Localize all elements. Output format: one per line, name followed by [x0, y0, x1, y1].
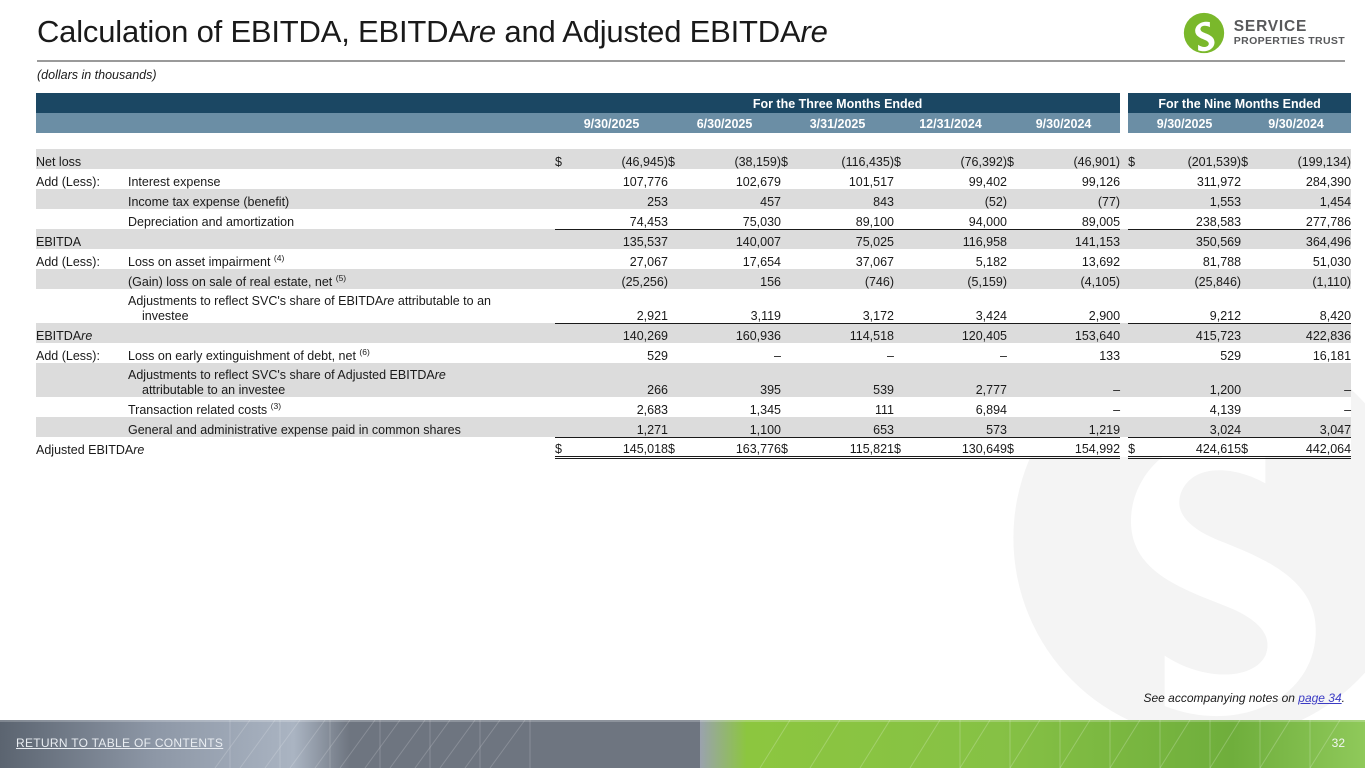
- return-to-table-of-contents-link[interactable]: RETURN TO TABLE OF CONTENTS: [16, 736, 223, 750]
- row-label-primary-adj-svc-share-adjusted-ebitdare: [36, 363, 128, 397]
- currency-symbol-net-loss-4: $: [1007, 149, 1023, 169]
- footer-band: RETURN TO TABLE OF CONTENTS 32: [0, 720, 1365, 768]
- cell-gain-loss-sale-real-estate-1: 156: [684, 269, 781, 289]
- cell-adjusted-ebitdare-1: 163,776: [684, 437, 781, 457]
- cell-income-tax-expense-3: (52): [910, 189, 1007, 209]
- row-label-primary-net-loss: Net loss: [36, 149, 128, 169]
- currency-symbol-loss-asset-impairment-0: [555, 249, 571, 269]
- currency-symbol-income-tax-expense-1: [668, 189, 684, 209]
- row-label-secondary-loss-asset-impairment: Loss on asset impairment (4): [128, 249, 555, 269]
- column-gap: [1120, 417, 1128, 437]
- currency-symbol-transaction-related-costs-2: [781, 397, 797, 417]
- cell-adj-svc-share-adjusted-ebitdare-0: 266: [571, 363, 668, 397]
- header-group-gap: [1120, 93, 1128, 113]
- table-row: Income tax expense (benefit)253457843(52…: [36, 189, 1351, 209]
- currency-symbol-adj-svc-share-adjusted-ebitdare-3: [894, 363, 910, 397]
- column-header-4: 9/30/2024: [1007, 113, 1120, 133]
- cell-adj-svc-share-adjusted-ebitdare-3: 2,777: [910, 363, 1007, 397]
- cell-interest-expense-6: 284,390: [1257, 169, 1351, 189]
- cell-ebitda-1: 140,007: [684, 229, 781, 249]
- column-header-2: 3/31/2025: [781, 113, 894, 133]
- table-header-dates: 9/30/2025 6/30/2025 3/31/2025 12/31/2024…: [36, 113, 1351, 133]
- cell-gain-loss-sale-real-estate-2: (746): [797, 269, 894, 289]
- cell-adj-svc-share-ebitdare-1: 3,119: [684, 289, 781, 323]
- cell-loss-asset-impairment-1: 17,654: [684, 249, 781, 269]
- financial-table-body: For the Three Months Ended For the Nine …: [36, 93, 1351, 457]
- cell-depreciation-amortization-4: 89,005: [1023, 209, 1120, 229]
- row-label-secondary-transaction-related-costs: Transaction related costs (3): [128, 397, 555, 417]
- cell-transaction-related-costs-1: 1,345: [684, 397, 781, 417]
- cell-transaction-related-costs-6: –: [1257, 397, 1351, 417]
- cell-income-tax-expense-2: 843: [797, 189, 894, 209]
- row-label-secondary-adj-svc-share-ebitdare: Adjustments to reflect SVC's share of EB…: [128, 289, 555, 323]
- row-label-secondary-adjusted-ebitdare: [128, 437, 555, 457]
- cell-loss-early-extinguishment-debt-5: 529: [1144, 343, 1241, 363]
- cell-gain-loss-sale-real-estate-3: (5,159): [910, 269, 1007, 289]
- cell-adj-svc-share-ebitdare-2: 3,172: [797, 289, 894, 323]
- currency-symbol-ebitda-1: [668, 229, 684, 249]
- cell-loss-early-extinguishment-debt-4: 133: [1023, 343, 1120, 363]
- table-row: (Gain) loss on sale of real estate, net …: [36, 269, 1351, 289]
- cell-ebitdare-0: 140,269: [571, 323, 668, 343]
- cell-loss-asset-impairment-0: 27,067: [571, 249, 668, 269]
- cell-ga-expense-common-shares-6: 3,047: [1257, 417, 1351, 437]
- currency-symbol-adj-svc-share-ebitdare-0: [555, 289, 571, 323]
- currency-symbol-interest-expense-5: [1128, 169, 1144, 189]
- currency-symbol-gain-loss-sale-real-estate-1: [668, 269, 684, 289]
- currency-symbol-adj-svc-share-adjusted-ebitdare-4: [1007, 363, 1023, 397]
- currency-symbol-loss-early-extinguishment-debt-2: [781, 343, 797, 363]
- column-gap: [1120, 397, 1128, 417]
- currency-symbol-loss-asset-impairment-5: [1128, 249, 1144, 269]
- notes-prefix: See accompanying notes on: [1143, 691, 1298, 705]
- currency-symbol-loss-early-extinguishment-debt-0: [555, 343, 571, 363]
- cell-gain-loss-sale-real-estate-4: (4,105): [1023, 269, 1120, 289]
- currency-symbol-net-loss-3: $: [894, 149, 910, 169]
- row-label-primary-loss-early-extinguishment-debt: Add (Less):: [36, 343, 128, 363]
- cell-ga-expense-common-shares-5: 3,024: [1144, 417, 1241, 437]
- page-title-mid: re: [469, 14, 496, 49]
- row-label-secondary-net-loss: [128, 149, 555, 169]
- row-label-primary-income-tax-expense: [36, 189, 128, 209]
- cell-interest-expense-1: 102,679: [684, 169, 781, 189]
- currency-symbol-gain-loss-sale-real-estate-0: [555, 269, 571, 289]
- currency-symbol-gain-loss-sale-real-estate-2: [781, 269, 797, 289]
- cell-net-loss-1: (38,159): [684, 149, 781, 169]
- cell-adj-svc-share-ebitdare-6: 8,420: [1257, 289, 1351, 323]
- row-label-primary-loss-asset-impairment: Add (Less):: [36, 249, 128, 269]
- currency-symbol-adj-svc-share-adjusted-ebitdare-2: [781, 363, 797, 397]
- currency-symbol-adj-svc-share-adjusted-ebitdare-5: [1128, 363, 1144, 397]
- currency-symbol-ebitda-2: [781, 229, 797, 249]
- cell-ebitdare-6: 422,836: [1257, 323, 1351, 343]
- currency-symbol-ga-expense-common-shares-1: [668, 417, 684, 437]
- column-gap: [1120, 269, 1128, 289]
- column-gap: [1120, 343, 1128, 363]
- currency-symbol-ebitda-6: [1241, 229, 1257, 249]
- cell-ebitda-2: 75,025: [797, 229, 894, 249]
- currency-symbol-loss-asset-impairment-3: [894, 249, 910, 269]
- table-row: Add (Less):Loss on early extinguishment …: [36, 343, 1351, 363]
- currency-symbol-loss-early-extinguishment-debt-1: [668, 343, 684, 363]
- cell-income-tax-expense-0: 253: [571, 189, 668, 209]
- cell-ebitdare-4: 153,640: [1023, 323, 1120, 343]
- currency-symbol-interest-expense-6: [1241, 169, 1257, 189]
- cell-adj-svc-share-adjusted-ebitdare-1: 395: [684, 363, 781, 397]
- cell-ga-expense-common-shares-0: 1,271: [571, 417, 668, 437]
- currency-symbol-transaction-related-costs-5: [1128, 397, 1144, 417]
- cell-adjusted-ebitdare-4: 154,992: [1023, 437, 1120, 457]
- currency-symbol-adj-svc-share-ebitdare-6: [1241, 289, 1257, 323]
- notes-page-link[interactable]: page 34: [1298, 691, 1341, 705]
- currency-symbol-loss-early-extinguishment-debt-6: [1241, 343, 1257, 363]
- cell-interest-expense-3: 99,402: [910, 169, 1007, 189]
- row-label-secondary-income-tax-expense: Income tax expense (benefit): [128, 189, 555, 209]
- currency-symbol-ebitda-0: [555, 229, 571, 249]
- cell-income-tax-expense-6: 1,454: [1257, 189, 1351, 209]
- table-row: Adjusted EBITDAre$145,018$163,776$115,82…: [36, 437, 1351, 457]
- logo-line-1: SERVICE: [1234, 19, 1345, 35]
- currency-symbol-transaction-related-costs-1: [668, 397, 684, 417]
- currency-symbol-transaction-related-costs-0: [555, 397, 571, 417]
- cell-loss-early-extinguishment-debt-0: 529: [571, 343, 668, 363]
- cell-depreciation-amortization-2: 89,100: [797, 209, 894, 229]
- cell-net-loss-3: (76,392): [910, 149, 1007, 169]
- page-title-mid2: and Adjusted EBITDA: [496, 14, 800, 49]
- currency-symbol-ebitdare-1: [668, 323, 684, 343]
- currency-symbol-depreciation-amortization-3: [894, 209, 910, 229]
- currency-symbol-interest-expense-4: [1007, 169, 1023, 189]
- row-label-primary-ebitdare: EBITDAre: [36, 323, 128, 343]
- currency-symbol-adj-svc-share-ebitdare-5: [1128, 289, 1144, 323]
- cell-interest-expense-0: 107,776: [571, 169, 668, 189]
- currency-symbol-adj-svc-share-adjusted-ebitdare-0: [555, 363, 571, 397]
- column-gap: [1120, 323, 1128, 343]
- currency-symbol-ebitdare-0: [555, 323, 571, 343]
- cell-transaction-related-costs-5: 4,139: [1144, 397, 1241, 417]
- currency-symbol-income-tax-expense-6: [1241, 189, 1257, 209]
- header-blank-left: [36, 93, 555, 113]
- currency-symbol-loss-asset-impairment-1: [668, 249, 684, 269]
- currency-symbol-adj-svc-share-ebitdare-1: [668, 289, 684, 323]
- cell-ga-expense-common-shares-1: 1,100: [684, 417, 781, 437]
- header-dates-gap: [1120, 113, 1128, 133]
- cell-gain-loss-sale-real-estate-0: (25,256): [571, 269, 668, 289]
- header-group-three-months: For the Three Months Ended: [555, 93, 1120, 113]
- cell-depreciation-amortization-6: 277,786: [1257, 209, 1351, 229]
- currency-symbol-ebitda-3: [894, 229, 910, 249]
- financial-table-container: For the Three Months Ended For the Nine …: [36, 93, 1345, 459]
- cell-net-loss-5: (201,539): [1144, 149, 1241, 169]
- table-row: Net loss$(46,945)$(38,159)$(116,435)$(76…: [36, 149, 1351, 169]
- cell-income-tax-expense-4: (77): [1023, 189, 1120, 209]
- cell-loss-early-extinguishment-debt-1: –: [684, 343, 781, 363]
- cell-loss-early-extinguishment-debt-6: 16,181: [1257, 343, 1351, 363]
- currency-symbol-adj-svc-share-adjusted-ebitdare-6: [1241, 363, 1257, 397]
- currency-symbol-income-tax-expense-3: [894, 189, 910, 209]
- column-gap: [1120, 209, 1128, 229]
- currency-symbol-transaction-related-costs-6: [1241, 397, 1257, 417]
- cell-depreciation-amortization-1: 75,030: [684, 209, 781, 229]
- currency-symbol-net-loss-2: $: [781, 149, 797, 169]
- cell-ga-expense-common-shares-2: 653: [797, 417, 894, 437]
- cell-adj-svc-share-adjusted-ebitdare-6: –: [1257, 363, 1351, 397]
- accompanying-notes: See accompanying notes on page 34.: [1143, 691, 1345, 705]
- row-label-secondary-depreciation-amortization: Depreciation and amortization: [128, 209, 555, 229]
- row-label-primary-adjusted-ebitdare: Adjusted EBITDAre: [36, 437, 128, 457]
- cell-transaction-related-costs-3: 6,894: [910, 397, 1007, 417]
- currency-symbol-loss-early-extinguishment-debt-4: [1007, 343, 1023, 363]
- cell-interest-expense-2: 101,517: [797, 169, 894, 189]
- cell-loss-asset-impairment-6: 51,030: [1257, 249, 1351, 269]
- table-row: General and administrative expense paid …: [36, 417, 1351, 437]
- table-row: Adjustments to reflect SVC's share of Ad…: [36, 363, 1351, 397]
- row-label-primary-ga-expense-common-shares: [36, 417, 128, 437]
- service-properties-trust-mark-icon: [1183, 12, 1225, 54]
- currency-symbol-adjusted-ebitdare-5: $: [1128, 437, 1144, 457]
- currency-symbol-ga-expense-common-shares-5: [1128, 417, 1144, 437]
- currency-symbol-gain-loss-sale-real-estate-6: [1241, 269, 1257, 289]
- cell-loss-early-extinguishment-debt-3: –: [910, 343, 1007, 363]
- cell-adjusted-ebitdare-3: 130,649: [910, 437, 1007, 457]
- row-label-primary-transaction-related-costs: [36, 397, 128, 417]
- currency-symbol-adjusted-ebitdare-0: $: [555, 437, 571, 457]
- column-header-1: 6/30/2025: [668, 113, 781, 133]
- currency-symbol-income-tax-expense-4: [1007, 189, 1023, 209]
- cell-depreciation-amortization-5: 238,583: [1144, 209, 1241, 229]
- page-title: Calculation of EBITDA, EBITDAre and Adju…: [37, 14, 828, 50]
- row-label-secondary-ebitda: [128, 229, 555, 249]
- currency-symbol-ga-expense-common-shares-2: [781, 417, 797, 437]
- cell-income-tax-expense-5: 1,553: [1144, 189, 1241, 209]
- currency-symbol-ga-expense-common-shares-6: [1241, 417, 1257, 437]
- row-label-secondary-interest-expense: Interest expense: [128, 169, 555, 189]
- currency-symbol-depreciation-amortization-6: [1241, 209, 1257, 229]
- cell-net-loss-4: (46,901): [1023, 149, 1120, 169]
- cell-adj-svc-share-adjusted-ebitdare-4: –: [1023, 363, 1120, 397]
- cell-adj-svc-share-ebitdare-0: 2,921: [571, 289, 668, 323]
- cell-depreciation-amortization-0: 74,453: [571, 209, 668, 229]
- column-header-5: 9/30/2025: [1128, 113, 1241, 133]
- table-row: Adjustments to reflect SVC's share of EB…: [36, 289, 1351, 323]
- column-gap: [1120, 437, 1128, 457]
- row-label-secondary-ga-expense-common-shares: General and administrative expense paid …: [128, 417, 555, 437]
- cell-adjusted-ebitdare-2: 115,821: [797, 437, 894, 457]
- cell-adj-svc-share-ebitdare-4: 2,900: [1023, 289, 1120, 323]
- column-gap: [1120, 189, 1128, 209]
- currency-symbol-net-loss-1: $: [668, 149, 684, 169]
- currency-symbol-interest-expense-0: [555, 169, 571, 189]
- currency-symbol-adj-svc-share-adjusted-ebitdare-1: [668, 363, 684, 397]
- row-label-primary-gain-loss-sale-real-estate: [36, 269, 128, 289]
- cell-loss-asset-impairment-3: 5,182: [910, 249, 1007, 269]
- table-row: Add (Less):Loss on asset impairment (4)2…: [36, 249, 1351, 269]
- title-divider: [37, 60, 1345, 62]
- row-label-secondary-adj-svc-share-adjusted-ebitdare: Adjustments to reflect SVC's share of Ad…: [128, 363, 555, 397]
- slide-root: Calculation of EBITDA, EBITDAre and Adju…: [0, 0, 1365, 768]
- logo-line-2: PROPERTIES TRUST: [1234, 36, 1345, 47]
- cell-ebitdare-5: 415,723: [1144, 323, 1241, 343]
- row-label-secondary-loss-early-extinguishment-debt: Loss on early extinguishment of debt, ne…: [128, 343, 555, 363]
- currency-symbol-income-tax-expense-0: [555, 189, 571, 209]
- currency-symbol-loss-asset-impairment-2: [781, 249, 797, 269]
- currency-symbol-loss-asset-impairment-4: [1007, 249, 1023, 269]
- cell-ebitda-0: 135,537: [571, 229, 668, 249]
- row-label-primary-adj-svc-share-ebitdare: [36, 289, 128, 323]
- currency-symbol-net-loss-0: $: [555, 149, 571, 169]
- currency-symbol-ga-expense-common-shares-4: [1007, 417, 1023, 437]
- page-number: 32: [1332, 736, 1345, 750]
- cell-net-loss-6: (199,134): [1257, 149, 1351, 169]
- currency-symbol-transaction-related-costs-4: [1007, 397, 1023, 417]
- currency-symbol-ebitda-4: [1007, 229, 1023, 249]
- currency-symbol-depreciation-amortization-4: [1007, 209, 1023, 229]
- currency-symbol-adjusted-ebitdare-3: $: [894, 437, 910, 457]
- currency-symbol-loss-early-extinguishment-debt-3: [894, 343, 910, 363]
- currency-symbol-depreciation-amortization-1: [668, 209, 684, 229]
- table-header-groups: For the Three Months Ended For the Nine …: [36, 93, 1351, 113]
- currency-symbol-adj-svc-share-ebitdare-3: [894, 289, 910, 323]
- currency-symbol-interest-expense-3: [894, 169, 910, 189]
- cell-adj-svc-share-ebitdare-3: 3,424: [910, 289, 1007, 323]
- cell-ebitdare-2: 114,518: [797, 323, 894, 343]
- cell-depreciation-amortization-3: 94,000: [910, 209, 1007, 229]
- cell-interest-expense-4: 99,126: [1023, 169, 1120, 189]
- currency-symbol-net-loss-5: $: [1128, 149, 1144, 169]
- currency-symbol-income-tax-expense-2: [781, 189, 797, 209]
- page-title-suffix: re: [800, 14, 827, 49]
- cell-transaction-related-costs-4: –: [1023, 397, 1120, 417]
- cell-adj-svc-share-adjusted-ebitdare-2: 539: [797, 363, 894, 397]
- column-gap: [1120, 289, 1128, 323]
- currency-symbol-ga-expense-common-shares-3: [894, 417, 910, 437]
- currency-symbol-adj-svc-share-ebitdare-4: [1007, 289, 1023, 323]
- currency-symbol-ebitdare-4: [1007, 323, 1023, 343]
- currency-symbol-gain-loss-sale-real-estate-3: [894, 269, 910, 289]
- currency-symbol-adjusted-ebitdare-2: $: [781, 437, 797, 457]
- column-header-3: 12/31/2024: [894, 113, 1007, 133]
- currency-symbol-depreciation-amortization-5: [1128, 209, 1144, 229]
- cell-ebitdare-1: 160,936: [684, 323, 781, 343]
- currency-symbol-loss-asset-impairment-6: [1241, 249, 1257, 269]
- header-group-nine-months: For the Nine Months Ended: [1128, 93, 1351, 113]
- table-row: EBITDAre140,269160,936114,518120,405153,…: [36, 323, 1351, 343]
- currency-symbol-adjusted-ebitdare-4: $: [1007, 437, 1023, 457]
- cell-transaction-related-costs-2: 111: [797, 397, 894, 417]
- column-header-0: 9/30/2025: [555, 113, 668, 133]
- currency-symbol-loss-early-extinguishment-debt-5: [1128, 343, 1144, 363]
- row-label-primary-ebitda: EBITDA: [36, 229, 128, 249]
- column-gap: [1120, 363, 1128, 397]
- cell-ebitda-4: 141,153: [1023, 229, 1120, 249]
- cell-adj-svc-share-ebitdare-5: 9,212: [1144, 289, 1241, 323]
- cell-adjusted-ebitdare-6: 442,064: [1257, 437, 1351, 457]
- row-label-secondary-ebitdare: [128, 323, 555, 343]
- cell-income-tax-expense-1: 457: [684, 189, 781, 209]
- table-row: EBITDA135,537140,00775,025116,958141,153…: [36, 229, 1351, 249]
- cell-gain-loss-sale-real-estate-6: (1,110): [1257, 269, 1351, 289]
- header-dates-blank: [36, 113, 555, 133]
- currency-symbol-gain-loss-sale-real-estate-5: [1128, 269, 1144, 289]
- cell-ga-expense-common-shares-4: 1,219: [1023, 417, 1120, 437]
- cell-adjusted-ebitdare-0: 145,018: [571, 437, 668, 457]
- cell-ga-expense-common-shares-3: 573: [910, 417, 1007, 437]
- currency-symbol-interest-expense-2: [781, 169, 797, 189]
- table-spacer-row: [36, 133, 1351, 149]
- cell-loss-asset-impairment-5: 81,788: [1144, 249, 1241, 269]
- page-subtitle: (dollars in thousands): [37, 68, 157, 82]
- currency-symbol-depreciation-amortization-0: [555, 209, 571, 229]
- row-label-primary-depreciation-amortization: [36, 209, 128, 229]
- column-gap: [1120, 169, 1128, 189]
- currency-symbol-income-tax-expense-5: [1128, 189, 1144, 209]
- currency-symbol-adjusted-ebitdare-6: $: [1241, 437, 1257, 457]
- company-logo: SERVICE PROPERTIES TRUST: [1183, 12, 1345, 54]
- currency-symbol-adj-svc-share-ebitdare-2: [781, 289, 797, 323]
- cell-adjusted-ebitdare-5: 424,615: [1144, 437, 1241, 457]
- financial-table: For the Three Months Ended For the Nine …: [36, 93, 1351, 459]
- currency-symbol-ebitdare-5: [1128, 323, 1144, 343]
- column-gap: [1120, 249, 1128, 269]
- cell-ebitda-6: 364,496: [1257, 229, 1351, 249]
- cell-net-loss-0: (46,945): [571, 149, 668, 169]
- currency-symbol-depreciation-amortization-2: [781, 209, 797, 229]
- column-header-6: 9/30/2024: [1241, 113, 1351, 133]
- currency-symbol-ebitdare-3: [894, 323, 910, 343]
- table-row: Transaction related costs (3)2,6831,3451…: [36, 397, 1351, 417]
- cell-transaction-related-costs-0: 2,683: [571, 397, 668, 417]
- cell-interest-expense-5: 311,972: [1144, 169, 1241, 189]
- currency-symbol-gain-loss-sale-real-estate-4: [1007, 269, 1023, 289]
- column-gap: [1120, 229, 1128, 249]
- column-gap: [1120, 149, 1128, 169]
- currency-symbol-adjusted-ebitdare-1: $: [668, 437, 684, 457]
- currency-symbol-net-loss-6: $: [1241, 149, 1257, 169]
- table-row: Add (Less):Interest expense107,776102,67…: [36, 169, 1351, 189]
- cell-ebitda-3: 116,958: [910, 229, 1007, 249]
- cell-ebitdare-3: 120,405: [910, 323, 1007, 343]
- notes-suffix: .: [1342, 691, 1345, 705]
- currency-symbol-ebitda-5: [1128, 229, 1144, 249]
- cell-loss-early-extinguishment-debt-2: –: [797, 343, 894, 363]
- row-label-secondary-gain-loss-sale-real-estate: (Gain) loss on sale of real estate, net …: [128, 269, 555, 289]
- row-label-primary-interest-expense: Add (Less):: [36, 169, 128, 189]
- cell-net-loss-2: (116,435): [797, 149, 894, 169]
- cell-gain-loss-sale-real-estate-5: (25,846): [1144, 269, 1241, 289]
- currency-symbol-transaction-related-costs-3: [894, 397, 910, 417]
- cell-adj-svc-share-adjusted-ebitdare-5: 1,200: [1144, 363, 1241, 397]
- currency-symbol-ga-expense-common-shares-0: [555, 417, 571, 437]
- cell-loss-asset-impairment-4: 13,692: [1023, 249, 1120, 269]
- currency-symbol-ebitdare-2: [781, 323, 797, 343]
- table-row: Depreciation and amortization74,45375,03…: [36, 209, 1351, 229]
- page-title-prefix: Calculation of EBITDA, EBITDA: [37, 14, 469, 49]
- currency-symbol-interest-expense-1: [668, 169, 684, 189]
- cell-loss-asset-impairment-2: 37,067: [797, 249, 894, 269]
- cell-ebitda-5: 350,569: [1144, 229, 1241, 249]
- currency-symbol-ebitdare-6: [1241, 323, 1257, 343]
